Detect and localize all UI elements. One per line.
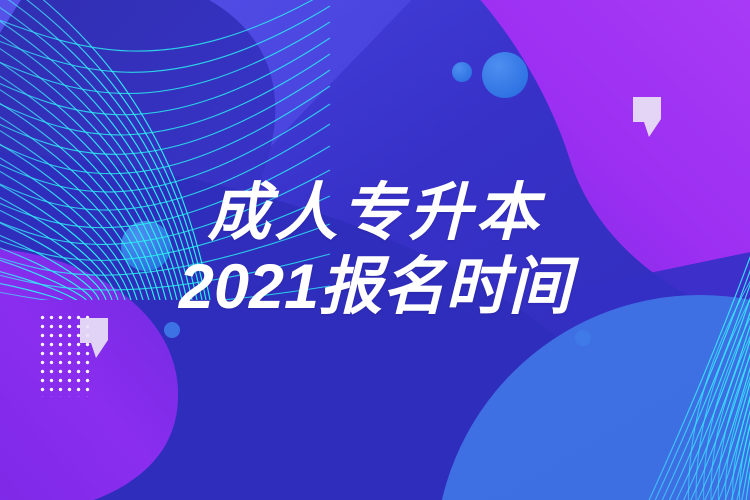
banner-graphic: 成人专升本 2021报名时间 xyxy=(0,0,750,500)
headline-block: 成人专升本 2021报名时间 xyxy=(0,0,750,500)
headline-line-1: 成人专升本 xyxy=(208,179,543,247)
headline-line-2: 2021报名时间 xyxy=(179,253,571,321)
